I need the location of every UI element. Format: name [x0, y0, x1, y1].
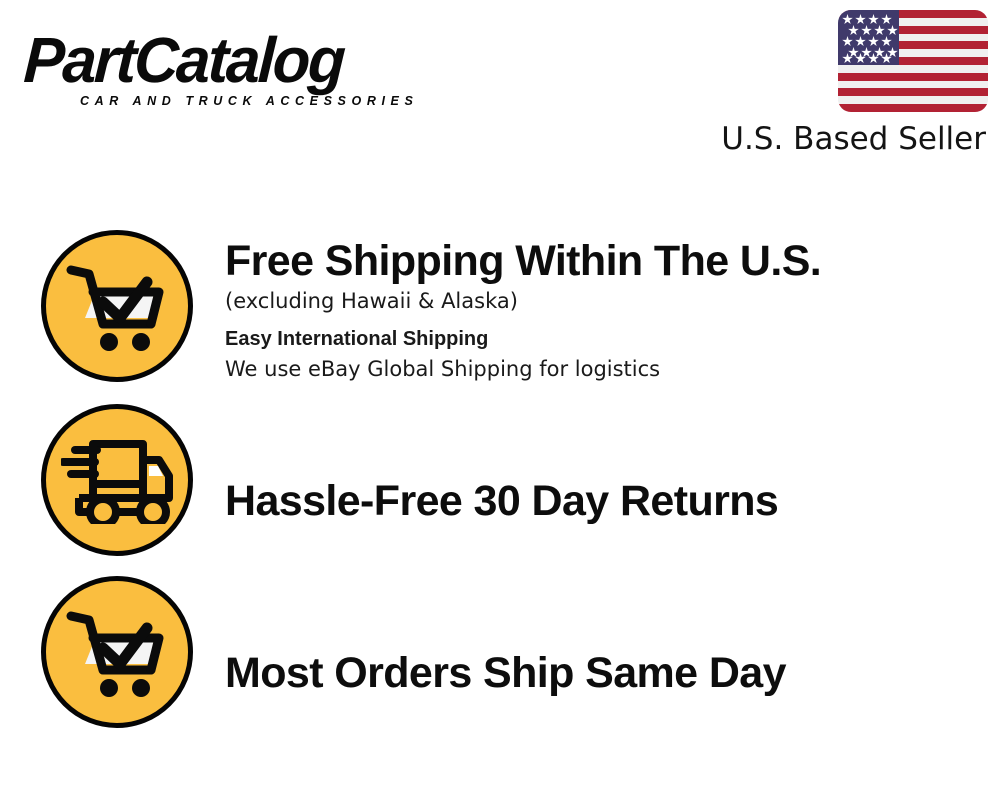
feature-icon-wrapper	[41, 230, 193, 382]
feature-icon-wrapper	[41, 576, 193, 728]
shopping-cart-check-icon	[41, 230, 193, 382]
feature-text-block: Hassle-Free 30 Day Returns	[193, 434, 1000, 526]
flag-stripe	[838, 96, 988, 104]
feature-sub-text: We use eBay Global Shipping for logistic…	[225, 354, 1000, 384]
feature-item-same-day-ship: Most Orders Ship Same Day	[0, 576, 1000, 728]
us-flag-icon	[838, 10, 988, 112]
feature-subtitle: (excluding Hawaii & Alaska)	[225, 286, 1000, 316]
brand-logo[interactable]: PartCatalog CAR AND TRUCK ACCESSORIES	[24, 28, 504, 118]
feature-text-block: Most Orders Ship Same Day	[193, 606, 1000, 698]
page-header: PartCatalog CAR AND TRUCK ACCESSORIES	[0, 0, 1000, 175]
feature-item-returns: Hassle-Free 30 Day Returns	[0, 404, 1000, 556]
flag-canton	[838, 10, 899, 65]
feature-icon-wrapper	[41, 404, 193, 556]
flag-stripe	[838, 73, 988, 81]
feature-item-free-shipping: Free Shipping Within The U.S. (excluding…	[0, 230, 1000, 384]
feature-title: Free Shipping Within The U.S.	[225, 236, 1000, 286]
flag-stripe	[838, 88, 988, 96]
seller-badge: U.S. Based Seller	[688, 10, 988, 157]
brand-tagline: CAR AND TRUCK ACCESSORIES	[80, 94, 504, 108]
feature-text-block: Free Shipping Within The U.S. (excluding…	[193, 230, 1000, 384]
delivery-truck-icon	[41, 404, 193, 556]
feature-title: Most Orders Ship Same Day	[225, 648, 1000, 698]
brand-wordmark: PartCatalog	[22, 28, 486, 92]
flag-stripe	[838, 81, 988, 89]
shopping-cart-check-icon	[41, 576, 193, 728]
seller-badge-label: U.S. Based Seller	[688, 121, 988, 157]
flag-stripe	[838, 104, 988, 112]
feature-sub-heading: Easy International Shipping	[225, 324, 1000, 354]
feature-title: Hassle-Free 30 Day Returns	[225, 476, 1000, 526]
flag-stripe	[838, 65, 988, 73]
feature-list: Free Shipping Within The U.S. (excluding…	[0, 230, 1000, 748]
